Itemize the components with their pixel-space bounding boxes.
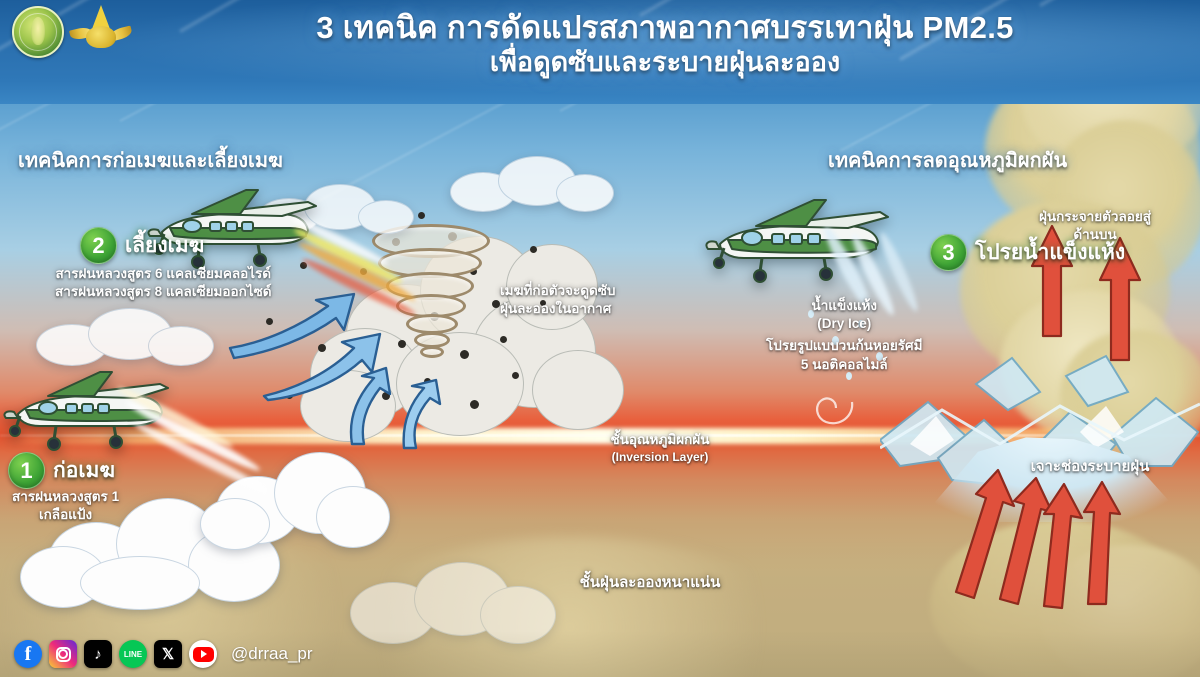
infographic-canvas: 3 เทคนิค การดัดแปรสภาพอากาศบรรเทาฝุ่น PM… [0, 0, 1200, 677]
facebook-icon[interactable]: f [14, 640, 42, 668]
air-intake-arrow-3 [330, 368, 394, 446]
step-2-label: เลี้ยงเมฆ [125, 229, 204, 262]
step-1-details: สารฝนหลวงสูตร 1 เกลือแป้ง [12, 488, 119, 524]
air-intake-arrow-4 [386, 380, 444, 450]
step-badge-1[interactable]: 1 ก่อเมฆ [8, 452, 115, 489]
annotation-cloud-absorbs: เมฆที่ก่อตัวจะดูดซับ ฝุ่นละอองในอากาศ [500, 282, 616, 318]
cloud-absorb-line-2: ฝุ่นละอองในอากาศ [500, 300, 616, 318]
social-footer: f ♪ LINE 𝕏 @drraa_pr [0, 631, 1200, 677]
annotation-inversion-layer: ชั้นอุณหภูมิผกผัน (Inversion Layer) [560, 431, 760, 465]
step-3-detail-line-3: โปรยรูปแบบวนก้นหอยรัศมี [766, 337, 923, 355]
title-line-2: เพื่อดูดซับและระบายฝุ่นละออง [150, 46, 1180, 78]
spiral-dispersal-pattern [800, 380, 870, 441]
dust-rises-line-2: ด้านบน [1000, 226, 1190, 244]
step-3-detail-line-2: (Dry Ice) [766, 315, 923, 333]
step-3-number: 3 [930, 234, 967, 271]
inversion-layer-en: (Inversion Layer) [560, 449, 760, 465]
step-2-detail-line-2: สารฝนหลวงสูตร 8 แคลเซียมออกไซด์ [55, 283, 272, 301]
step-1-detail-line-2: เกลือแป้ง [12, 506, 119, 524]
step-2-number: 2 [80, 227, 117, 264]
royal-rainmaking-seal-icon [12, 6, 64, 58]
dust-rises-line-1: ฝุ่นกระจายตัวลอยสู่ [1000, 208, 1190, 226]
header-bar: 3 เทคนิค การดัดแปรสภาพอากาศบรรเทาฝุ่น PM… [0, 0, 1200, 104]
section-heading-left: เทคนิคการก่อเมฆและเลี้ยงเมฆ [18, 144, 283, 176]
page-title: 3 เทคนิค การดัดแปรสภาพอากาศบรรเทาฝุ่น PM… [150, 11, 1180, 78]
step-1-detail-line-1: สารฝนหลวงสูตร 1 [12, 488, 119, 506]
instagram-icon[interactable] [49, 640, 77, 668]
annotation-dense-dust-layer: ชั้นฝุ่นละอองหนาแน่น [540, 573, 760, 593]
annotation-dust-rises: ฝุ่นกระจายตัวลอยสู่ ด้านบน [1000, 208, 1190, 244]
step-3-detail-line-1: น้ำแข็งแห้ง [766, 297, 923, 315]
step-badge-2[interactable]: 2 เลี้ยงเมฆ [80, 227, 204, 264]
cloud-wisp-upper-left [26, 300, 226, 370]
title-line-1: 3 เทคนิค การดัดแปรสภาพอากาศบรรเทาฝุ่น PM… [150, 11, 1180, 46]
tiktok-icon[interactable]: ♪ [84, 640, 112, 668]
youtube-icon[interactable] [189, 640, 217, 668]
annotation-vent-dust: เจาะช่องระบายฝุ่น [1000, 457, 1180, 477]
line-icon[interactable]: LINE [119, 640, 147, 668]
step-3-detail-line-4: 5 นอติคอลไมล์ [766, 356, 923, 374]
step-1-label: ก่อเมฆ [53, 454, 115, 487]
inversion-layer-th: ชั้นอุณหภูมิผกผัน [560, 431, 760, 449]
step-2-details: สารฝนหลวงสูตร 6 แคลเซียมคลอไรด์ สารฝนหลว… [55, 265, 272, 301]
cloud-wisp-center-top [440, 150, 620, 214]
step-1-number: 1 [8, 452, 45, 489]
dust-rise-arrow-3 [1040, 484, 1086, 610]
cloud-absorb-line-1: เมฆที่ก่อตัวจะดูดซับ [500, 282, 616, 300]
step-2-detail-line-1: สารฝนหลวงสูตร 6 แคลเซียมคลอไรด์ [55, 265, 272, 283]
agency-logos [12, 6, 130, 58]
x-icon[interactable]: 𝕏 [154, 640, 182, 668]
social-handle[interactable]: @drraa_pr [231, 644, 313, 664]
step-3-details: น้ำแข็งแห้ง (Dry Ice) โปรยรูปแบบวนก้นหอย… [766, 297, 923, 374]
royal-garuda-emblem-icon [72, 6, 130, 58]
section-heading-right: เทคนิคการลดอุณหภูมิผกผัน [828, 144, 1067, 176]
dust-rise-arrow-4 [1082, 482, 1124, 606]
